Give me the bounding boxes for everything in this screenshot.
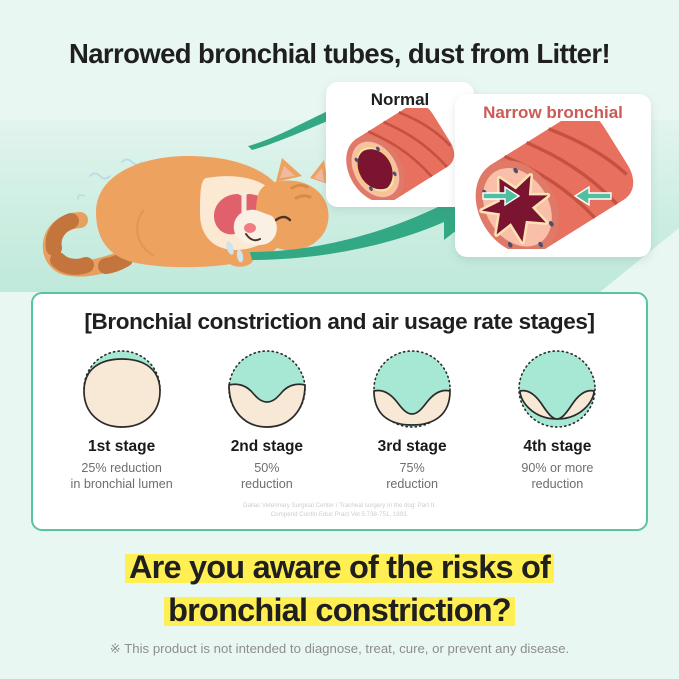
stage-3-desc: 75% reduction	[344, 461, 480, 492]
footer-question-line-1-text: Are you aware of the risks of	[125, 549, 554, 585]
stage-1-desc-line1: 25% reduction	[54, 461, 190, 477]
bronchial-tube-normal-icon	[341, 108, 459, 200]
stage-4-desc: 90% or more reduction	[489, 461, 625, 492]
bronchial-stages-panel: [Bronchial constriction and air usage ra…	[31, 292, 648, 531]
stage-3-name: 3rd stage	[344, 438, 480, 456]
footer-question: Are you aware of the risks of bronchial …	[0, 546, 679, 632]
disclaimer-text: ※ This product is not intended to diagno…	[0, 641, 679, 657]
stage-item-2: 2nd stage 50% reduction	[199, 345, 335, 492]
citation-line-1: Dallas Veterinary Surgical Center / Trac…	[33, 502, 646, 511]
narrow-bronchial-card: Narrow bronchial	[455, 94, 651, 257]
narrow-tube-figure	[455, 121, 651, 249]
normal-tube-figure	[326, 108, 474, 200]
stage-item-4: 4th stage 90% or more reduction	[489, 345, 625, 492]
coughing-cat-icon	[24, 138, 344, 288]
bronchial-tube-narrow-icon	[465, 121, 641, 249]
lumen-stage-1-icon	[76, 345, 168, 431]
citation-line-2: Compend Contin Educ Pract Vet 5:738-751,…	[33, 511, 646, 520]
stage-4-desc-line1: 90% or more	[489, 461, 625, 477]
infographic-page: Narrowed bronchial tubes, dust from Litt…	[0, 0, 679, 679]
stage-2-name: 2nd stage	[199, 438, 335, 456]
stage-4-desc-line2: reduction	[489, 477, 625, 493]
stage-3-figure	[344, 345, 480, 431]
stage-4-name: 4th stage	[489, 438, 625, 456]
normal-card-title: Normal	[326, 91, 474, 108]
lumen-stage-2-icon	[221, 345, 313, 431]
stage-1-desc-line2: in bronchial lumen	[54, 477, 190, 493]
citation: Dallas Veterinary Surgical Center / Trac…	[33, 502, 646, 520]
stage-1-name: 1st stage	[54, 438, 190, 456]
coughing-cat-illustration	[24, 138, 344, 293]
stage-3-desc-line2: reduction	[344, 477, 480, 493]
lumen-stage-3-icon	[366, 345, 458, 431]
stage-2-desc-line2: reduction	[199, 477, 335, 493]
stage-2-figure	[199, 345, 335, 431]
stages-panel-title: [Bronchial constriction and air usage ra…	[33, 309, 646, 335]
footer-question-line-1: Are you aware of the risks of	[0, 546, 679, 589]
stage-1-figure	[54, 345, 190, 431]
stage-item-3: 3rd stage 75% reduction	[344, 345, 480, 492]
stage-1-desc: 25% reduction in bronchial lumen	[54, 461, 190, 492]
stage-4-figure	[489, 345, 625, 431]
stage-item-1: 1st stage 25% reduction in bronchial lum…	[54, 345, 190, 492]
footer-question-line-2-text: bronchial constriction?	[164, 592, 515, 628]
stage-2-desc: 50% reduction	[199, 461, 335, 492]
stages-row: 1st stage 25% reduction in bronchial lum…	[33, 345, 646, 492]
page-title: Narrowed bronchial tubes, dust from Litt…	[0, 38, 679, 70]
narrow-card-title: Narrow bronchial	[455, 104, 651, 121]
lumen-stage-4-icon	[511, 345, 603, 431]
stage-3-desc-line1: 75%	[344, 461, 480, 477]
stage-2-desc-line1: 50%	[199, 461, 335, 477]
normal-bronchial-card: Normal	[326, 82, 474, 207]
footer-question-line-2: bronchial constriction?	[0, 589, 679, 632]
